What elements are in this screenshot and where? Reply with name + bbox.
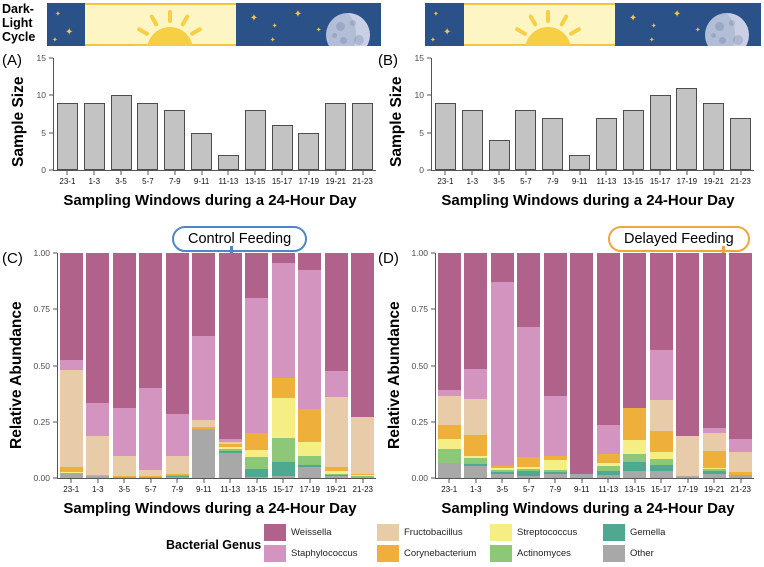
x-axis-line	[432, 170, 754, 171]
x-tick-mark	[472, 171, 473, 175]
bar	[352, 103, 373, 170]
star-icon: ✦	[673, 11, 681, 18]
y-tick-mark	[53, 253, 57, 254]
moon-crater	[350, 20, 356, 26]
legend: WeissellaFructobacillusStreptococcusGeme…	[264, 524, 744, 566]
panel-d-xlabel: Sampling Windows during a 24-Hour Day	[418, 500, 758, 517]
stack-segment-gemella	[650, 465, 673, 472]
stacked-bar	[517, 253, 540, 478]
moon-crater	[711, 33, 716, 38]
stack-segment-fructobacillus	[166, 456, 189, 474]
y-tick-mark	[427, 132, 431, 133]
moon-crater	[733, 35, 743, 45]
stack-segment-staphylococcus	[60, 360, 83, 370]
y-tick-mark	[53, 309, 57, 310]
y-tick-label: 10	[16, 90, 46, 100]
bar	[245, 110, 266, 170]
x-tick-label: 5-7	[523, 485, 535, 494]
stack-segment-staphylococcus	[438, 390, 461, 396]
stack-segment-fructobacillus	[703, 433, 726, 451]
panel-c-plot: 0.000.250.500.751.0023-11-33-55-77-99-11…	[58, 253, 376, 478]
y-tick-mark	[427, 95, 431, 96]
x-tick-mark	[124, 479, 125, 483]
legend-swatch-actinomyces	[490, 545, 512, 562]
stacked-bar	[192, 253, 215, 478]
x-tick-mark	[230, 479, 231, 483]
x-tick-mark	[502, 479, 503, 483]
y-tick-label: 0.75	[398, 304, 428, 314]
bar	[569, 155, 590, 170]
stack-segment-fructobacillus	[650, 400, 673, 430]
x-tick-label: 15-17	[650, 177, 670, 186]
legend-label-staphylococcus: Staphylococcus	[291, 545, 358, 562]
star-icon: ✦	[695, 27, 701, 34]
x-tick-mark	[555, 479, 556, 483]
stack-segment-actinomyces	[325, 474, 348, 475]
legend-label-actinomyces: Actinomyces	[517, 545, 571, 562]
y-tick-mark	[431, 365, 435, 366]
y-tick-label: 0.25	[398, 417, 428, 427]
stack-segment-actinomyces	[597, 466, 620, 471]
stack-segment-fructobacillus	[464, 399, 487, 435]
stacked-bar	[491, 253, 514, 478]
sun-ray-icon	[194, 45, 207, 47]
stack-segment-staphylococcus	[245, 298, 268, 433]
stack-segment-corynebacterium	[351, 474, 374, 475]
stack-segment-fructobacillus	[113, 456, 136, 476]
x-tick-label: 17-19	[300, 485, 320, 494]
stack-segment-corynebacterium	[219, 444, 242, 446]
legend-label-corynebacterium: Corynebacterium	[404, 545, 476, 562]
stack-segment-weissella	[544, 253, 567, 396]
bar	[218, 155, 239, 170]
stack-segment-corynebacterium	[544, 456, 567, 461]
stack-segment-gemella	[351, 476, 374, 477]
x-tick-mark	[174, 171, 175, 175]
stack-segment-weissella	[464, 253, 487, 369]
y-tick-mark	[49, 170, 53, 171]
legend-swatch-fructobacillus	[377, 524, 399, 541]
y-tick-mark	[431, 478, 435, 479]
stacked-bar	[570, 253, 593, 478]
panel-b-plot: 05101523-11-33-55-77-99-1111-1313-1515-1…	[432, 58, 754, 170]
legend-swatch-staphylococcus	[264, 545, 286, 562]
stack-segment-actinomyces	[464, 458, 487, 464]
x-tick-label: 7-9	[547, 177, 559, 186]
x-tick-label: 13-15	[247, 485, 267, 494]
x-tick-mark	[661, 479, 662, 483]
stack-segment-corynebacterium	[517, 457, 540, 467]
y-tick-label: 0.00	[398, 473, 428, 483]
x-tick-label: 15-17	[273, 485, 293, 494]
legend-swatch-streptococcus	[490, 524, 512, 541]
y-axis-line	[435, 253, 436, 479]
stack-segment-gemella	[517, 471, 540, 476]
moon-crater	[354, 35, 364, 45]
panel-d-tag: (D)	[378, 250, 399, 267]
stack-segment-other	[517, 476, 540, 478]
stack-segment-weissella	[139, 253, 162, 388]
bar	[676, 88, 697, 170]
y-tick-mark	[431, 253, 435, 254]
stack-segment-weissella	[86, 253, 109, 403]
x-tick-label: 21-23	[353, 485, 373, 494]
bar	[298, 133, 319, 170]
bar	[137, 103, 158, 170]
x-tick-mark	[687, 479, 688, 483]
stack-segment-weissella	[623, 253, 646, 408]
legend-swatch-corynebacterium	[377, 545, 399, 562]
stack-segment-staphylococcus	[650, 350, 673, 401]
stack-segment-staphylococcus	[113, 408, 136, 456]
stack-segment-streptococcus	[219, 447, 242, 450]
x-tick-label: 19-21	[704, 485, 724, 494]
x-tick-label: 3-5	[496, 485, 508, 494]
stack-segment-fructobacillus	[192, 420, 215, 428]
stack-segment-actinomyces	[517, 469, 540, 471]
stack-segment-staphylococcus	[86, 403, 109, 436]
stack-segment-streptococcus	[139, 476, 162, 477]
y-tick-label: 0	[16, 165, 46, 175]
star-icon: ✦	[316, 27, 322, 34]
stack-segment-streptococcus	[60, 472, 83, 473]
sun-ray-icon	[546, 10, 550, 23]
y-axis-line	[53, 58, 54, 171]
stack-segment-weissella	[676, 253, 699, 436]
sun-ray-icon	[168, 10, 172, 23]
stack-segment-gemella	[491, 472, 514, 474]
stack-segment-streptococcus	[464, 456, 487, 458]
x-tick-label: 3-5	[493, 177, 505, 186]
legend-swatch-other	[603, 545, 625, 562]
delayed-feeding-callout: Delayed Feeding	[608, 226, 750, 252]
x-tick-mark	[634, 479, 635, 483]
x-tick-mark	[177, 479, 178, 483]
stacked-bar	[139, 253, 162, 478]
stack-segment-staphylococcus	[192, 336, 215, 419]
x-tick-mark	[714, 479, 715, 483]
x-tick-mark	[475, 479, 476, 483]
moon-crater	[715, 22, 724, 31]
stacked-bar	[298, 253, 321, 478]
stacked-bar	[245, 253, 268, 478]
stack-segment-other	[676, 476, 699, 478]
stack-segment-weissella	[517, 253, 540, 327]
stack-segment-other	[570, 474, 593, 479]
bar	[623, 110, 644, 170]
x-tick-label: 15-17	[651, 485, 671, 494]
bar	[84, 103, 105, 170]
stack-segment-actinomyces	[298, 456, 321, 465]
stack-segment-staphylococcus	[597, 425, 620, 454]
x-tick-mark	[201, 171, 202, 175]
y-tick-mark	[49, 132, 53, 133]
x-tick-label: 5-7	[520, 177, 532, 186]
x-tick-mark	[660, 171, 661, 175]
x-tick-label: 17-19	[299, 177, 319, 186]
stack-segment-actinomyces	[703, 469, 726, 471]
stack-segment-other	[729, 475, 752, 478]
x-tick-mark	[579, 171, 580, 175]
legend-label-gemella: Gemella	[630, 524, 665, 541]
y-tick-label: 0.25	[20, 417, 50, 427]
stack-segment-fructobacillus	[438, 396, 461, 425]
stack-segment-other	[86, 476, 109, 478]
stack-segment-actinomyces	[650, 459, 673, 465]
x-tick-label: 7-9	[549, 485, 561, 494]
legend-label-fructobacillus: Fructobacillus	[404, 524, 463, 541]
stack-segment-streptococcus	[517, 467, 540, 469]
x-tick-label: 17-19	[677, 177, 697, 186]
x-tick-mark	[309, 479, 310, 483]
stack-segment-weissella	[491, 253, 514, 282]
y-tick-mark	[49, 95, 53, 96]
y-axis-line	[431, 58, 432, 171]
y-tick-label: 10	[394, 90, 424, 100]
stack-segment-weissella	[729, 253, 752, 439]
star-icon: ✦	[651, 23, 657, 30]
x-tick-label: 1-3	[88, 177, 100, 186]
stack-segment-streptococcus	[650, 452, 673, 459]
y-tick-mark	[53, 365, 57, 366]
control-feeding-callout: Control Feeding	[172, 226, 307, 252]
x-tick-mark	[97, 479, 98, 483]
stack-segment-fructobacillus	[219, 442, 242, 444]
x-tick-label: 13-15	[245, 177, 265, 186]
bar	[272, 125, 293, 170]
stacked-bar	[464, 253, 487, 478]
bar	[164, 110, 185, 170]
stack-segment-gemella	[623, 462, 646, 471]
x-tick-mark	[740, 479, 741, 483]
stack-segment-other	[245, 477, 268, 478]
stacked-bar	[729, 253, 752, 478]
stacked-bar	[544, 253, 567, 478]
stack-segment-staphylococcus	[325, 371, 348, 397]
bar	[542, 118, 563, 170]
stack-segment-streptococcus	[245, 450, 268, 457]
x-tick-mark	[528, 479, 529, 483]
stack-segment-staphylococcus	[464, 369, 487, 398]
bar	[435, 103, 456, 170]
y-tick-label: 15	[394, 53, 424, 63]
y-tick-mark	[427, 58, 431, 59]
x-tick-label: 9-11	[572, 177, 587, 186]
y-tick-mark	[53, 421, 57, 422]
stack-segment-actinomyces	[219, 449, 242, 451]
stacked-bar	[703, 253, 726, 478]
stack-segment-weissella	[325, 253, 348, 371]
stack-segment-fructobacillus	[729, 452, 752, 472]
stack-segment-actinomyces	[245, 457, 268, 469]
x-tick-label: 21-23	[352, 177, 372, 186]
stacked-bar	[113, 253, 136, 478]
stack-segment-streptococcus	[325, 471, 348, 473]
moon-crater	[729, 20, 735, 26]
moon-crater	[719, 37, 726, 44]
x-tick-label: 5-7	[142, 177, 154, 186]
stack-segment-streptococcus	[597, 463, 620, 466]
stack-segment-corynebacterium	[60, 467, 83, 472]
stack-segment-other	[139, 477, 162, 478]
x-tick-label: 23-1	[441, 485, 457, 494]
stack-segment-staphylococcus	[729, 439, 752, 453]
x-tick-label: 15-17	[272, 177, 292, 186]
stacked-bar	[86, 253, 109, 478]
x-tick-mark	[121, 171, 122, 175]
stack-segment-corynebacterium	[272, 378, 295, 398]
x-tick-label: 1-3	[92, 485, 104, 494]
stack-segment-streptococcus	[351, 475, 374, 476]
x-tick-label: 3-5	[118, 485, 130, 494]
stack-segment-other	[597, 475, 620, 478]
y-tick-label: 1.00	[20, 248, 50, 258]
bar	[703, 103, 724, 170]
stack-segment-weissella	[60, 253, 83, 360]
stack-segment-actinomyces	[351, 476, 374, 477]
stacked-bar	[623, 253, 646, 478]
x-tick-mark	[228, 171, 229, 175]
moon-crater	[340, 37, 347, 44]
x-tick-label: 19-21	[704, 177, 724, 186]
stack-segment-other	[325, 476, 348, 478]
x-tick-mark	[713, 171, 714, 175]
stacked-bar	[166, 253, 189, 478]
stack-segment-other	[703, 474, 726, 479]
x-tick-mark	[67, 171, 68, 175]
legend-label-other: Other	[630, 545, 654, 562]
x-tick-mark	[608, 479, 609, 483]
panel-c-xlabel: Sampling Windows during a 24-Hour Day	[40, 500, 380, 517]
stack-segment-weissella	[272, 253, 295, 263]
stack-segment-gemella	[544, 472, 567, 473]
stack-segment-staphylococcus	[544, 396, 567, 456]
x-tick-mark	[335, 171, 336, 175]
stack-segment-other	[113, 477, 136, 478]
bar	[650, 95, 671, 170]
stack-segment-staphylococcus	[219, 439, 242, 442]
y-axis-line	[57, 253, 58, 479]
stack-segment-corynebacterium	[623, 408, 646, 440]
stack-segment-streptococcus	[298, 442, 321, 456]
stack-segment-other	[650, 471, 673, 478]
stack-segment-other	[623, 471, 646, 478]
stack-segment-other	[219, 453, 242, 478]
moon-icon	[326, 13, 370, 47]
x-tick-label: 7-9	[171, 485, 183, 494]
stack-segment-corynebacterium	[298, 409, 321, 442]
bar	[730, 118, 751, 170]
stack-segment-other	[166, 477, 189, 478]
stack-segment-weissella	[166, 253, 189, 414]
bar	[111, 95, 132, 170]
stacked-bar	[597, 253, 620, 478]
stack-segment-fructobacillus	[60, 370, 83, 467]
stack-segment-weissella	[351, 253, 374, 417]
stack-segment-other	[192, 429, 215, 479]
x-tick-label: 9-11	[574, 485, 589, 494]
x-tick-mark	[633, 171, 634, 175]
sun-ray-icon	[511, 45, 524, 47]
stack-segment-streptococcus	[544, 460, 567, 470]
x-tick-label: 23-1	[63, 485, 79, 494]
stack-segment-weissella	[245, 253, 268, 298]
x-axis-line	[58, 478, 376, 479]
stack-segment-corynebacterium	[192, 427, 215, 428]
x-tick-mark	[336, 479, 337, 483]
stack-segment-gemella	[219, 451, 242, 453]
x-tick-mark	[581, 479, 582, 483]
stack-segment-other	[60, 472, 83, 478]
stack-segment-staphylococcus	[272, 263, 295, 378]
stack-segment-fructobacillus	[325, 397, 348, 467]
stack-segment-actinomyces	[438, 449, 461, 464]
stack-segment-fructobacillus	[139, 470, 162, 476]
stack-segment-gemella	[166, 476, 189, 477]
x-tick-label: 21-23	[730, 177, 750, 186]
stack-segment-corynebacterium	[729, 472, 752, 474]
x-tick-mark	[362, 479, 363, 483]
x-tick-mark	[606, 171, 607, 175]
x-tick-label: 7-9	[169, 177, 181, 186]
panel-d-plot: 0.000.250.500.751.0023-11-33-55-77-99-11…	[436, 253, 754, 478]
stack-segment-other	[464, 466, 487, 478]
stack-segment-staphylococcus	[298, 270, 321, 410]
stack-segment-corynebacterium	[438, 425, 461, 439]
y-tick-mark	[431, 309, 435, 310]
cycle-label-line-3: Cycle	[2, 30, 46, 44]
stack-segment-weissella	[113, 253, 136, 408]
stack-segment-weissella	[597, 253, 620, 425]
x-axis-line	[54, 170, 376, 171]
stack-segment-corynebacterium	[245, 433, 268, 450]
x-tick-label: 23-1	[59, 177, 75, 186]
stack-segment-corynebacterium	[325, 467, 348, 472]
stack-segment-gemella	[298, 465, 321, 467]
stack-segment-other	[298, 467, 321, 478]
stacked-bar	[219, 253, 242, 478]
x-tick-label: 1-3	[470, 485, 482, 494]
star-icon: ✦	[294, 11, 302, 18]
x-tick-mark	[71, 479, 72, 483]
star-icon: ✦	[65, 29, 73, 36]
stack-segment-gemella	[597, 471, 620, 476]
x-tick-mark	[362, 171, 363, 175]
stack-segment-fructobacillus	[351, 417, 374, 473]
x-tick-label: 1-3	[466, 177, 478, 186]
stack-segment-weissella	[570, 253, 593, 474]
stack-segment-staphylococcus	[491, 282, 514, 465]
y-tick-label: 15	[16, 53, 46, 63]
stack-segment-weissella	[298, 253, 321, 270]
star-icon: ✦	[433, 11, 439, 18]
legend-swatch-gemella	[603, 524, 625, 541]
stack-segment-actinomyces	[491, 470, 514, 472]
bar	[489, 140, 510, 170]
stack-segment-corynebacterium	[703, 451, 726, 468]
dark-light-cycle-banner-right: ✦✦✦✦✦✦✦✦✦✦	[424, 2, 762, 47]
legend-label-streptococcus: Streptococcus	[517, 524, 577, 541]
x-tick-mark	[147, 171, 148, 175]
moon-crater	[332, 33, 337, 38]
star-icon: ✦	[250, 15, 258, 22]
x-tick-mark	[203, 479, 204, 483]
stack-segment-fructobacillus	[86, 436, 109, 475]
x-tick-label: 9-11	[196, 485, 211, 494]
y-tick-mark	[431, 421, 435, 422]
star-icon: ✦	[629, 15, 637, 22]
stack-segment-gemella	[325, 475, 348, 476]
